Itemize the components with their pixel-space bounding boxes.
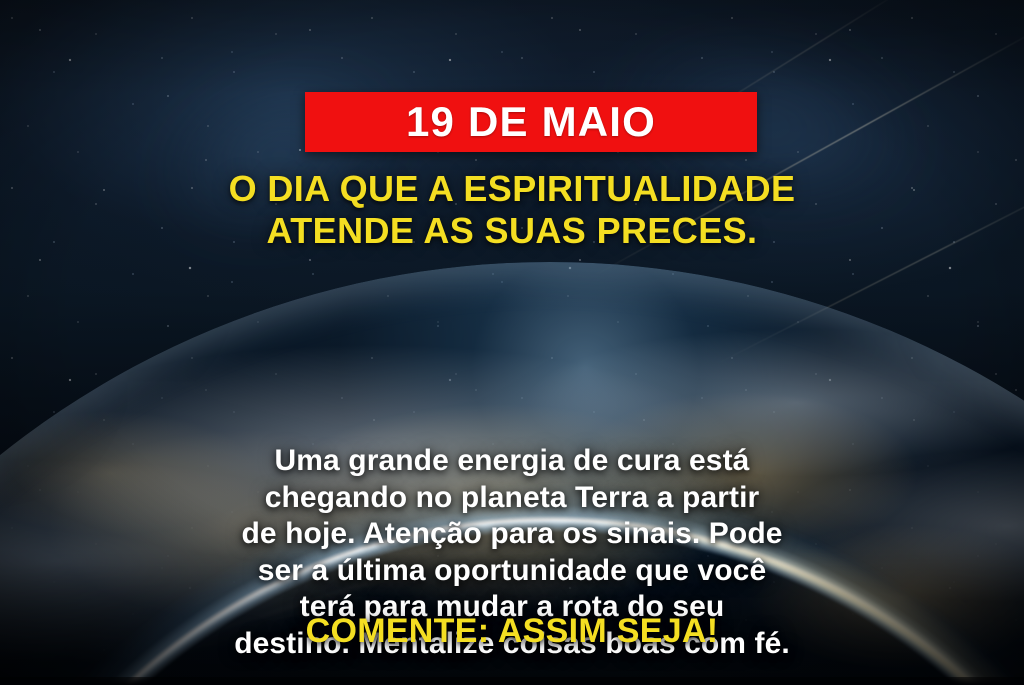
body-line-1: Uma grande energia de cura está [56, 443, 968, 480]
call-to-action-text: COMENTE: ASSIM SEJA! [0, 612, 1024, 651]
date-banner-text: 19 DE MAIO [406, 101, 656, 143]
poster-content: 19 DE MAIO O DIA QUE A ESPIRITUALIDADE A… [0, 0, 1024, 685]
headline-line-1: O DIA QUE A ESPIRITUALIDADE [52, 168, 972, 210]
body-line-2: chegando no planeta Terra a partir [56, 480, 968, 517]
headline-line-2: ATENDE AS SUAS PRECES. [52, 210, 972, 252]
body-line-3: de hoje. Atenção para os sinais. Pode [56, 516, 968, 553]
date-banner: 19 DE MAIO [305, 92, 757, 152]
poster-canvas: 19 DE MAIO O DIA QUE A ESPIRITUALIDADE A… [0, 0, 1024, 685]
bottom-edge-band [0, 677, 1024, 685]
headline: O DIA QUE A ESPIRITUALIDADE ATENDE AS SU… [0, 168, 1024, 252]
body-line-4: ser a última oportunidade que você [56, 553, 968, 590]
